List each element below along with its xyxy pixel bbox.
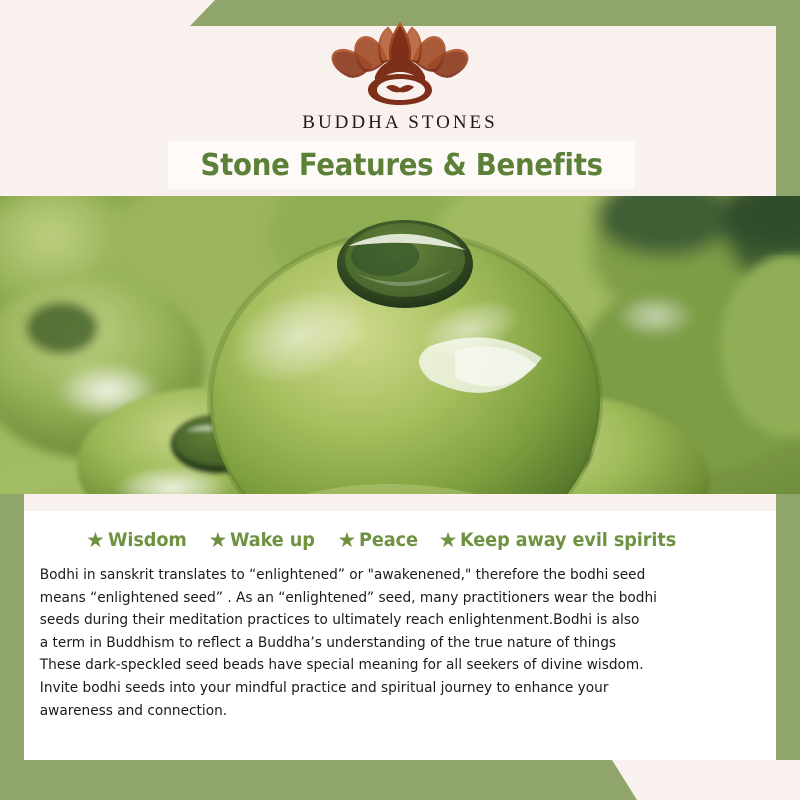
description-line: seeds during their meditation practices … [40,609,760,632]
description-text: Bodhi in sanskrit translates to “enlight… [34,564,764,722]
description-line: These dark-speckled seed beads have spec… [40,654,760,677]
content-separator [24,494,776,511]
benefits-row: ★ Wisdom ★ Wake up ★ Peace ★ Keep away e… [34,523,768,557]
description-line: Invite bodhi seeds into your mindful pra… [40,677,760,700]
star-icon: ★ [208,530,227,551]
benefit-item: ★ Wake up [208,529,321,551]
star-icon: ★ [86,530,105,551]
description-line: a term in Buddhism to reflect a Buddha’s… [40,632,760,655]
frame-bottom-band [0,760,800,800]
page-title: Stone Features & Benefits [200,148,602,183]
benefit-item: ★ Keep away evil spirits [439,529,693,551]
benefit-label: Wisdom [108,529,187,551]
poster-root: BUDDHA STONES Stone Features & Benefits [0,0,800,800]
hero-image: Bodhi Seed [0,196,800,494]
bodhi-seed-beads-photo [0,196,800,494]
headline-banner: Stone Features & Benefits [168,141,635,189]
brand-logo: BUDDHA STONES [0,18,800,138]
benefit-item: ★ Peace [337,529,422,551]
description-line: means “enlightened seed” . As an “enligh… [40,587,760,610]
description-line: Bodhi in sanskrit translates to “enlight… [40,564,760,587]
benefit-label: Keep away evil spirits [460,529,676,551]
content-panel: ★ Wisdom ★ Wake up ★ Peace ★ Keep away e… [24,511,776,760]
star-icon: ★ [337,530,356,551]
benefit-label: Peace [359,529,418,551]
brand-wordmark: BUDDHA STONES [302,112,497,134]
star-icon: ★ [439,530,458,551]
lotus-meditation-figure-icon [316,18,484,110]
benefit-item: ★ Wisdom [86,529,192,551]
description-line: awareness and connection. [40,700,760,723]
benefit-label: Wake up [230,529,315,551]
